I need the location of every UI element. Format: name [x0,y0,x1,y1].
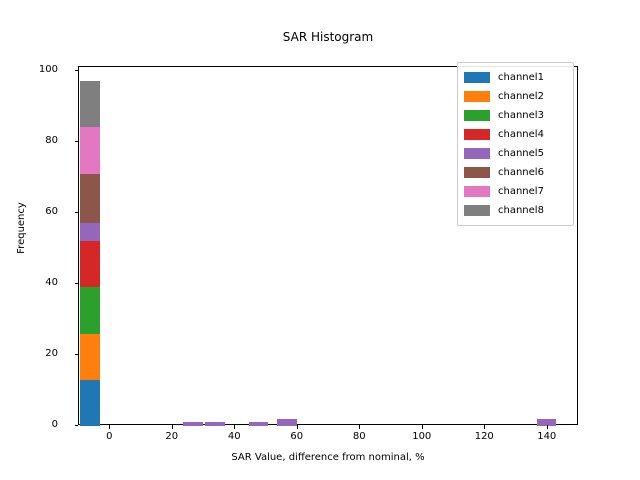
x-axis-label: SAR Value, difference from nominal, % [78,452,578,464]
x-tick-mark [234,425,235,429]
bar-segment [80,380,99,426]
bar-segment [80,241,99,287]
y-tick-label: 80 [18,136,58,146]
x-tick-label: 140 [527,432,567,442]
legend-label: channel8 [498,205,544,216]
legend-swatch-icon [464,186,490,197]
matplotlib-figure: SAR Histogram 020406080100 0204060801001… [0,0,640,480]
legend-label: channel3 [498,110,544,121]
legend-swatch-icon [464,167,490,178]
x-tick-mark [484,425,485,429]
x-tick-mark [547,425,548,429]
x-tick-mark [109,425,110,429]
legend-label: channel4 [498,129,544,140]
y-tick-label: 20 [18,349,58,359]
legend-swatch-icon [464,72,490,83]
bar-segment [80,223,99,241]
legend-label: channel7 [498,186,544,197]
x-tick-label: 100 [402,432,442,442]
chart-title: SAR Histogram [78,30,578,44]
legend-item-channel8[interactable]: channel8 [464,201,567,220]
x-tick-label: 120 [464,432,504,442]
legend-item-channel4[interactable]: channel4 [464,125,567,144]
x-tick-mark [422,425,423,429]
legend-item-channel6[interactable]: channel6 [464,163,567,182]
legend-swatch-icon [464,110,490,121]
x-tick-mark [172,425,173,429]
y-tick-label: 100 [18,65,58,75]
x-tick-mark [297,425,298,429]
legend-swatch-icon [464,205,490,216]
x-tick-label: 20 [152,432,192,442]
legend-label: channel6 [498,167,544,178]
y-tick-mark [75,70,79,71]
x-tick-mark [359,425,360,429]
legend-item-channel7[interactable]: channel7 [464,182,567,201]
legend-item-channel5[interactable]: channel5 [464,144,567,163]
y-axis-label: Frequency [16,173,28,283]
chart-legend: channel1channel2channel3channel4channel5… [457,62,574,226]
legend-item-channel3[interactable]: channel3 [464,106,567,125]
bar-segment [80,127,99,173]
legend-swatch-icon [464,129,490,140]
y-axis-ticks: 020406080100 [62,66,78,425]
y-tick-mark [75,283,79,284]
legend-swatch-icon [464,148,490,159]
bar-segment [80,174,99,224]
legend-item-channel2[interactable]: channel2 [464,87,567,106]
y-tick-mark [75,354,79,355]
legend-item-channel1[interactable]: channel1 [464,68,567,87]
bar-segment [80,334,99,380]
y-tick-mark [75,141,79,142]
legend-swatch-icon [464,91,490,102]
x-tick-label: 80 [339,432,379,442]
bar-segment [80,81,99,127]
legend-label: channel5 [498,148,544,159]
y-tick-label: 0 [18,420,58,430]
bar-segment [80,287,99,333]
legend-label: channel1 [498,72,544,83]
y-tick-mark [75,212,79,213]
legend-label: channel2 [498,91,544,102]
x-tick-label: 0 [89,432,129,442]
x-tick-label: 60 [277,432,317,442]
x-axis-ticks: 020406080100120140 [78,425,578,445]
x-tick-label: 40 [214,432,254,442]
